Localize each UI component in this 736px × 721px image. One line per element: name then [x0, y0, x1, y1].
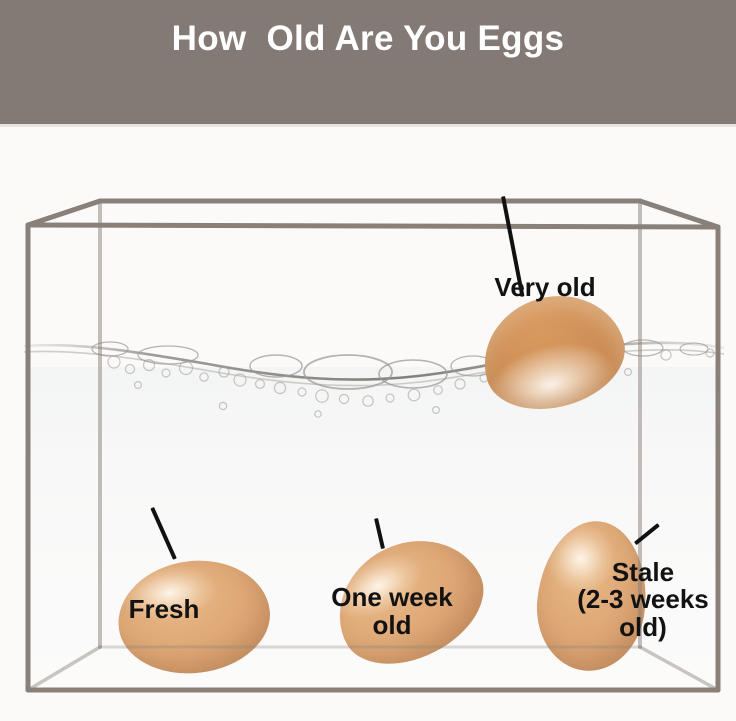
label-stale: Stale (2-3 weeks old): [548, 559, 736, 641]
label-fresh: Fresh: [94, 595, 234, 623]
page-title: How Old Are You Eggs: [0, 17, 736, 61]
label-one-week-old: One week old: [292, 583, 492, 639]
header-bar: How Old Are You Eggs: [0, 0, 736, 124]
illustration-stage: Very old Fresh One week old Stale (2-3 w…: [0, 127, 736, 721]
label-very-old: Very old: [450, 273, 640, 301]
infographic-page: How Old Are You Eggs: [0, 0, 736, 721]
